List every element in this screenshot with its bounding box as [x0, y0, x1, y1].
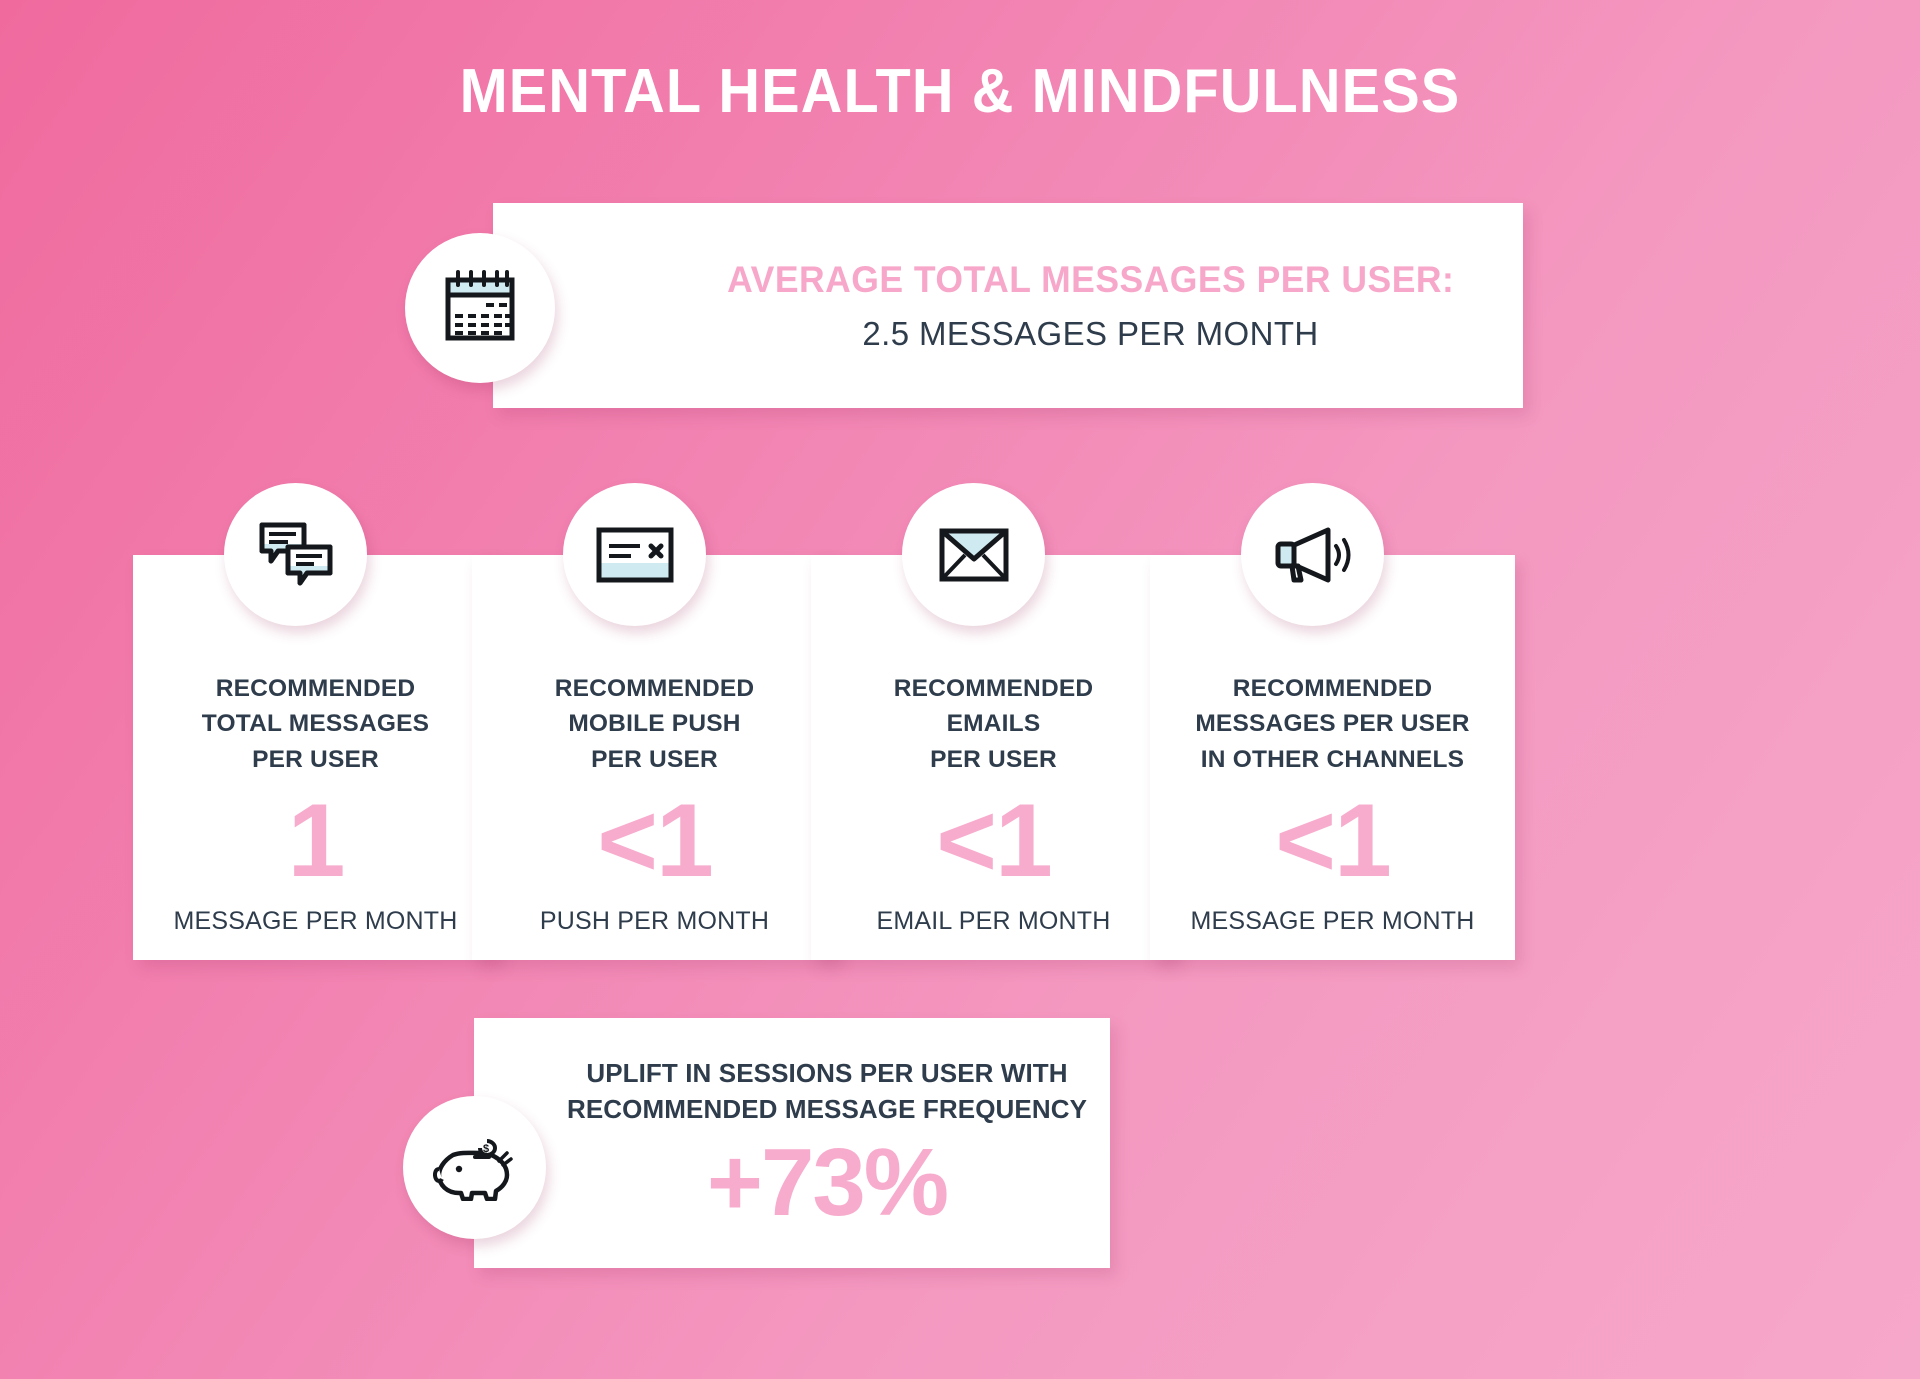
megaphone-icon: [1270, 524, 1356, 586]
banner-value: 2.5 MESSAGES PER MONTH: [862, 315, 1318, 353]
chat-bubbles-icon: [258, 521, 334, 589]
metric-label: RECOMMENDED MESSAGES PER USER IN OTHER C…: [1187, 671, 1477, 777]
metric-label: RECOMMENDED EMAILS PER USER: [886, 671, 1102, 777]
metric-number: 1: [288, 789, 344, 893]
metric-label-line: PER USER: [894, 742, 1094, 777]
push-notification-icon-badge: [563, 483, 706, 626]
svg-text:$: $: [483, 1143, 489, 1155]
calendar-icon: [441, 270, 519, 346]
piggy-bank-icon: $: [433, 1135, 517, 1201]
average-messages-card: AVERAGE TOTAL MESSAGES PER USER: 2.5 MES…: [493, 203, 1523, 408]
metric-caption: MESSAGE PER MONTH: [174, 907, 458, 936]
banner-heading: AVERAGE TOTAL MESSAGES PER USER:: [727, 259, 1454, 301]
metric-label-line: TOTAL MESSAGES: [202, 706, 429, 741]
metric-label-line: RECOMMENDED: [202, 671, 429, 706]
page-title: MENTAL HEALTH & MINDFULNESS: [67, 56, 1853, 127]
metric-label-line: IN OTHER CHANNELS: [1195, 742, 1469, 777]
metric-label-line: PER USER: [202, 742, 429, 777]
metric-label-line: MESSAGES PER USER: [1195, 706, 1469, 741]
push-notification-icon: [595, 524, 675, 586]
metric-label-line: PER USER: [555, 742, 755, 777]
envelope-icon: [938, 525, 1010, 585]
metric-number: <1: [1275, 789, 1390, 893]
metric-label: RECOMMENDED MOBILE PUSH PER USER: [547, 671, 763, 777]
metric-number: <1: [597, 789, 712, 893]
megaphone-icon-badge: [1241, 483, 1384, 626]
metric-label: RECOMMENDED TOTAL MESSAGES PER USER: [194, 671, 437, 777]
metric-caption: PUSH PER MONTH: [540, 907, 769, 936]
metric-label-line: RECOMMENDED: [1195, 671, 1469, 706]
metric-caption: EMAIL PER MONTH: [876, 907, 1110, 936]
uplift-number: +73%: [707, 1135, 947, 1231]
chat-bubbles-icon-badge: [224, 483, 367, 626]
uplift-label-line: RECOMMENDED MESSAGE FREQUENCY: [567, 1091, 1087, 1127]
envelope-icon-badge: [902, 483, 1045, 626]
calendar-icon-badge: [405, 233, 555, 383]
uplift-label: UPLIFT IN SESSIONS PER USER WITH RECOMME…: [567, 1055, 1087, 1128]
uplift-label-line: UPLIFT IN SESSIONS PER USER WITH: [567, 1055, 1087, 1091]
metric-label-line: RECOMMENDED: [894, 671, 1094, 706]
metric-caption: MESSAGE PER MONTH: [1191, 907, 1475, 936]
uplift-card: UPLIFT IN SESSIONS PER USER WITH RECOMME…: [474, 1018, 1110, 1268]
metric-label-line: MOBILE PUSH: [555, 706, 755, 741]
metric-label-line: EMAILS: [894, 706, 1094, 741]
metric-label-line: RECOMMENDED: [555, 671, 755, 706]
piggy-bank-icon-badge: $: [403, 1096, 546, 1239]
metric-number: <1: [936, 789, 1051, 893]
